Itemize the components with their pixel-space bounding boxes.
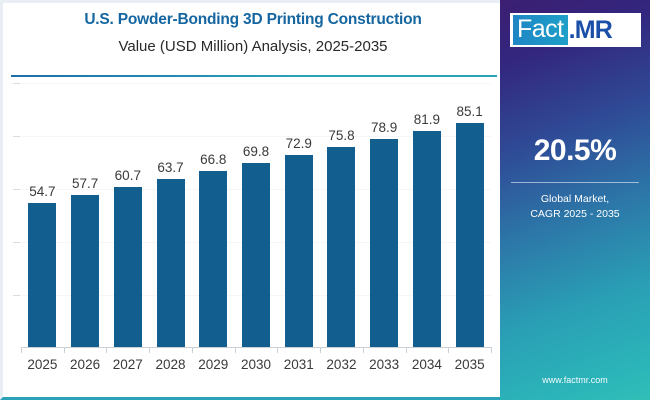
x-axis-label: 2027 <box>107 357 149 372</box>
x-axis-label: 2032 <box>320 357 362 372</box>
infographic-page: U.S. Powder-Bonding 3D Printing Construc… <box>0 0 650 400</box>
bar-value-label: 75.8 <box>320 128 362 143</box>
bar[interactable] <box>28 203 56 348</box>
x-axis-label: 2035 <box>449 357 491 372</box>
x-axis-label: 2026 <box>64 357 106 372</box>
cagr-value: 20.5% <box>500 134 650 168</box>
cagr-caption-line-1: Global Market, <box>500 192 650 207</box>
logo-fact-text: Fact <box>513 15 568 45</box>
bar-value-label: 54.7 <box>21 184 63 199</box>
bar-column[interactable]: 63.7 <box>150 160 192 348</box>
x-axis-tick <box>192 347 193 353</box>
bar[interactable] <box>413 131 441 348</box>
bar[interactable] <box>327 147 355 348</box>
bar-value-label: 85.1 <box>449 104 491 119</box>
x-axis-tick <box>106 347 107 353</box>
logo-mr-text: .MR <box>568 16 612 44</box>
x-axis-tick <box>406 347 407 353</box>
x-axis-tick <box>149 347 150 353</box>
bar[interactable] <box>370 139 398 348</box>
website-url[interactable]: www.factmr.com <box>500 375 650 385</box>
cagr-divider <box>511 182 639 183</box>
x-axis-tick <box>235 347 236 353</box>
bar-column[interactable]: 69.8 <box>235 144 277 348</box>
chart-subtitle: Value (USD Million) Analysis, 2025-2035 <box>3 35 503 59</box>
chart-panel: U.S. Powder-Bonding 3D Printing Construc… <box>0 0 500 400</box>
y-axis-tick <box>13 83 20 84</box>
x-axis-tick <box>320 347 321 353</box>
y-axis-tick <box>13 242 20 243</box>
bar-column[interactable]: 78.9 <box>363 120 405 348</box>
plot-area: 54.757.760.763.766.869.872.975.878.981.9… <box>21 83 491 348</box>
title-divider <box>11 75 497 77</box>
bar[interactable] <box>242 163 270 348</box>
x-axis-line <box>21 347 491 348</box>
x-axis-tick <box>64 347 65 353</box>
cagr-caption-line-2: CAGR 2025 - 2035 <box>500 207 650 222</box>
brand-panel: Fact.MR 20.5% Global Market, CAGR 2025 -… <box>500 0 650 400</box>
x-axis-label: 2030 <box>235 357 277 372</box>
bar-value-label: 81.9 <box>406 112 448 127</box>
y-axis-tick <box>13 136 20 137</box>
x-axis-tick <box>448 347 449 353</box>
x-axis-tick <box>277 347 278 353</box>
bar-column[interactable]: 54.7 <box>21 184 63 348</box>
cagr-caption: Global Market, CAGR 2025 - 2035 <box>500 192 650 222</box>
bar-column[interactable]: 66.8 <box>192 152 234 348</box>
x-axis-tick <box>21 347 22 353</box>
bar-value-label: 69.8 <box>235 144 277 159</box>
x-axis-tick <box>491 347 492 353</box>
bar[interactable] <box>71 195 99 348</box>
bar-column[interactable]: 57.7 <box>64 176 106 348</box>
factmr-logo[interactable]: Fact.MR <box>510 13 641 47</box>
bar[interactable] <box>285 155 313 348</box>
bar-column[interactable]: 72.9 <box>278 136 320 348</box>
bar-column[interactable]: 75.8 <box>320 128 362 348</box>
x-axis-label: 2031 <box>278 357 320 372</box>
bar-column[interactable]: 60.7 <box>107 168 149 348</box>
x-axis-tick <box>363 347 364 353</box>
bar[interactable] <box>157 179 185 348</box>
y-axis-tick <box>13 295 20 296</box>
bar-value-label: 72.9 <box>278 136 320 151</box>
x-axis-label: 2029 <box>192 357 234 372</box>
x-axis-label: 2033 <box>363 357 405 372</box>
bar-value-label: 66.8 <box>192 152 234 167</box>
bar[interactable] <box>456 123 484 349</box>
bar-value-label: 57.7 <box>64 176 106 191</box>
x-axis-label: 2025 <box>21 357 63 372</box>
bar-value-label: 63.7 <box>150 160 192 175</box>
x-axis-label: 2034 <box>406 357 448 372</box>
bar[interactable] <box>114 187 142 348</box>
bar[interactable] <box>199 171 227 348</box>
bar-column[interactable]: 81.9 <box>406 112 448 348</box>
y-axis-tick <box>13 189 20 190</box>
chart-title: U.S. Powder-Bonding 3D Printing Construc… <box>3 9 503 31</box>
title-block: U.S. Powder-Bonding 3D Printing Construc… <box>3 9 503 59</box>
bar-value-label: 78.9 <box>363 120 405 135</box>
bar-column[interactable]: 85.1 <box>449 104 491 349</box>
bar-value-label: 60.7 <box>107 168 149 183</box>
gridline <box>21 83 491 84</box>
x-axis-label: 2028 <box>150 357 192 372</box>
